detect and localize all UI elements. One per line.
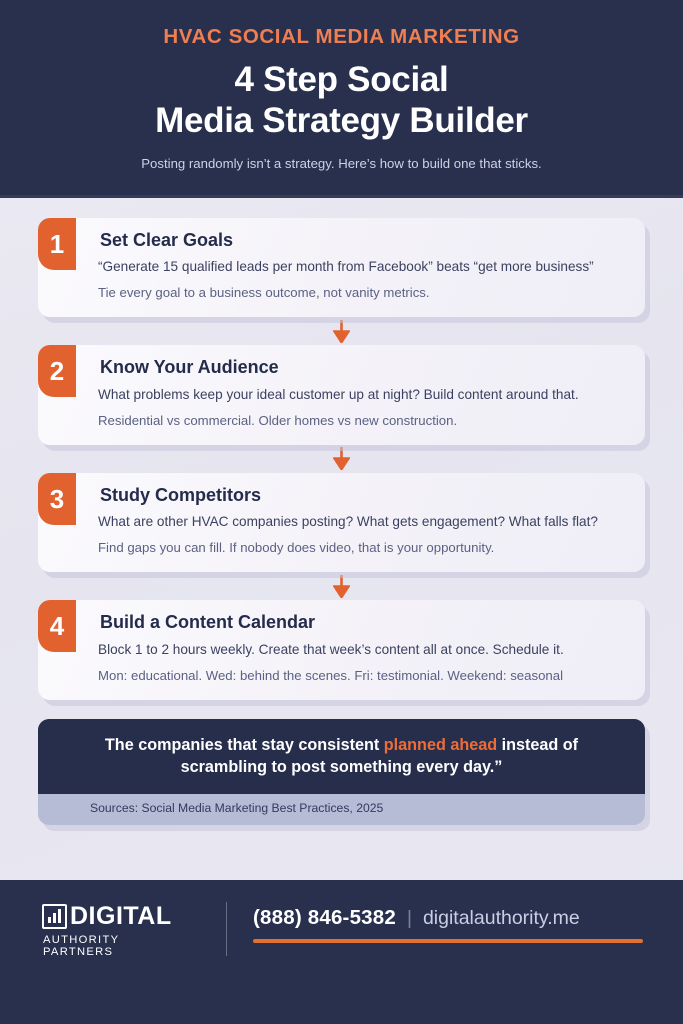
footer-divider (226, 902, 227, 956)
logo-word: DIGITAL (70, 904, 172, 929)
footer-bar: DIGITAL AUTHORITY PARTNERS (888) 846-538… (0, 880, 683, 1024)
phone-number[interactable]: (888) 846-5382 (253, 906, 396, 930)
headline-line-2: Media Strategy Builder (40, 100, 643, 141)
step-sub-text: Mon: educational. Wed: behind the scenes… (98, 667, 625, 686)
step-card: 1 Set Clear Goals “Generate 15 qualified… (38, 218, 645, 318)
quote-block: The companies that stay consistent plann… (38, 719, 645, 826)
steps-container: 1 Set Clear Goals “Generate 15 qualified… (0, 198, 683, 880)
contact-underline (253, 939, 643, 943)
step-card: 4 Build a Content Calendar Block 1 to 2 … (38, 600, 645, 700)
step-sub-text: Residential vs commercial. Older homes v… (98, 412, 625, 431)
quote-box: The companies that stay consistent plann… (38, 719, 645, 795)
brand-logo: DIGITAL AUTHORITY PARTNERS (42, 902, 192, 958)
step-title: Build a Content Calendar (100, 611, 625, 634)
step-main-text: What are other HVAC companies posting? W… (98, 512, 625, 531)
step-sub-text: Find gaps you can fill. If nobody does v… (98, 539, 625, 558)
step-number-badge: 4 (38, 600, 76, 652)
logo-wordmark-row: DIGITAL (42, 904, 172, 929)
arrow-down-icon (38, 445, 645, 473)
quote-text: The companies that stay consistent plann… (60, 734, 623, 779)
website-url[interactable]: digitalauthority.me (423, 907, 580, 930)
contact-row: (888) 846-5382 | digitalauthority.me (253, 906, 643, 930)
header-kicker: HVAC SOCIAL MEDIA MARKETING (40, 26, 643, 49)
quote-part-1: The companies that stay consistent (105, 736, 384, 754)
sources-bar: Sources: Social Media Marketing Best Pra… (38, 794, 645, 825)
step-card: 3 Study Competitors What are other HVAC … (38, 473, 645, 573)
contact-separator: | (407, 908, 412, 930)
step-title: Know Your Audience (100, 356, 625, 379)
infographic-page: HVAC SOCIAL MEDIA MARKETING 4 Step Socia… (0, 0, 683, 1024)
arrow-down-icon (38, 317, 645, 345)
arrow-down-icon (38, 572, 645, 600)
header-banner: HVAC SOCIAL MEDIA MARKETING 4 Step Socia… (0, 0, 683, 198)
step-card: 2 Know Your Audience What problems keep … (38, 345, 645, 445)
header-subhead: Posting randomly isn’t a strategy. Here’… (40, 155, 643, 173)
step-number-badge: 3 (38, 473, 76, 525)
step-sub-text: Tie every goal to a business outcome, no… (98, 284, 625, 303)
contact-block: (888) 846-5382 | digitalauthority.me (253, 902, 643, 943)
quote-highlight: planned ahead (384, 736, 497, 754)
step-main-text: Block 1 to 2 hours weekly. Create that w… (98, 640, 625, 659)
step-title: Set Clear Goals (100, 229, 625, 252)
step-title: Study Competitors (100, 484, 625, 507)
step-number-badge: 2 (38, 345, 76, 397)
step-main-text: What problems keep your ideal customer u… (98, 385, 625, 404)
step-number-badge: 1 (38, 218, 76, 270)
step-main-text: “Generate 15 qualified leads per month f… (98, 257, 625, 276)
logo-tagline: AUTHORITY PARTNERS (43, 934, 192, 958)
bar-chart-icon (42, 904, 67, 929)
headline-line-1: 4 Step Social (40, 59, 643, 100)
page-title: 4 Step Social Media Strategy Builder (40, 59, 643, 142)
